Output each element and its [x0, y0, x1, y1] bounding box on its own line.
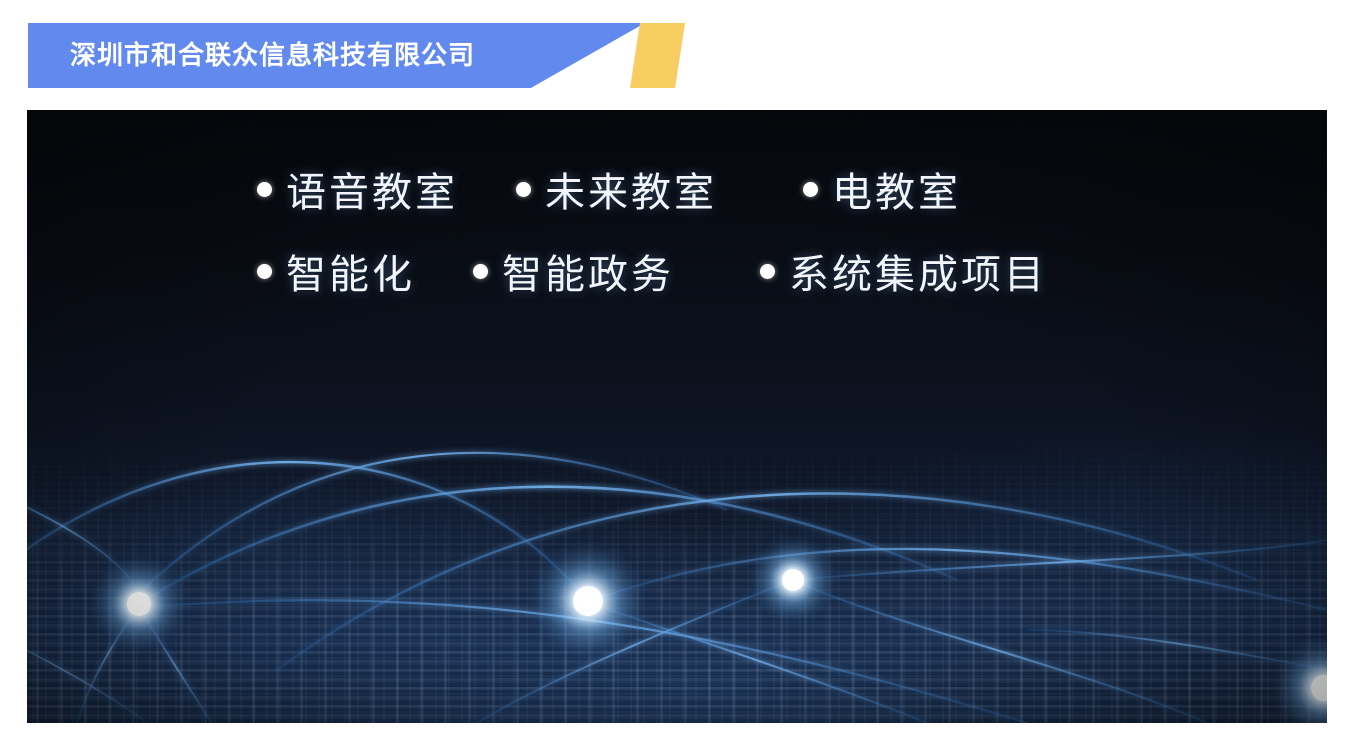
service-row-1: 语音教室 未来教室 电教室 — [27, 148, 1327, 230]
service-label: 智能政务 — [502, 242, 674, 300]
service-label: 电教室 — [832, 160, 961, 218]
service-label: 智能化 — [286, 242, 415, 300]
service-item-smart-government: 智能政务 — [473, 242, 674, 300]
service-label: 未来教室 — [545, 160, 717, 218]
bullet-dot-icon — [516, 182, 531, 197]
bullet-dot-icon — [257, 264, 272, 279]
header-banner: 深圳市和合联众信息科技有限公司 — [0, 0, 1348, 110]
banner-yellow-accent-shape — [630, 23, 685, 88]
service-label: 语音教室 — [286, 160, 458, 218]
service-label: 系统集成项目 — [789, 242, 1047, 300]
service-row-2: 智能化 智能政务 系统集成项目 — [27, 230, 1327, 312]
service-item-future-classroom: 未来教室 — [516, 160, 717, 218]
service-item-system-integration: 系统集成项目 — [760, 242, 1047, 300]
service-list: 语音教室 未来教室 电教室 智能化 — [27, 148, 1327, 312]
page-title: 深圳市和合联众信息科技有限公司 — [70, 23, 475, 88]
bullet-dot-icon — [760, 264, 775, 279]
service-item-intelligent: 智能化 — [257, 242, 415, 300]
bullet-dot-icon — [473, 264, 488, 279]
bullet-dot-icon — [803, 182, 818, 197]
service-item-voice-classroom: 语音教室 — [257, 160, 458, 218]
page-root: 深圳市和合联众信息科技有限公司 — [0, 0, 1348, 742]
service-item-e-classroom: 电教室 — [803, 160, 961, 218]
hero-image: 语音教室 未来教室 电教室 智能化 — [27, 110, 1327, 723]
bullet-dot-icon — [257, 182, 272, 197]
